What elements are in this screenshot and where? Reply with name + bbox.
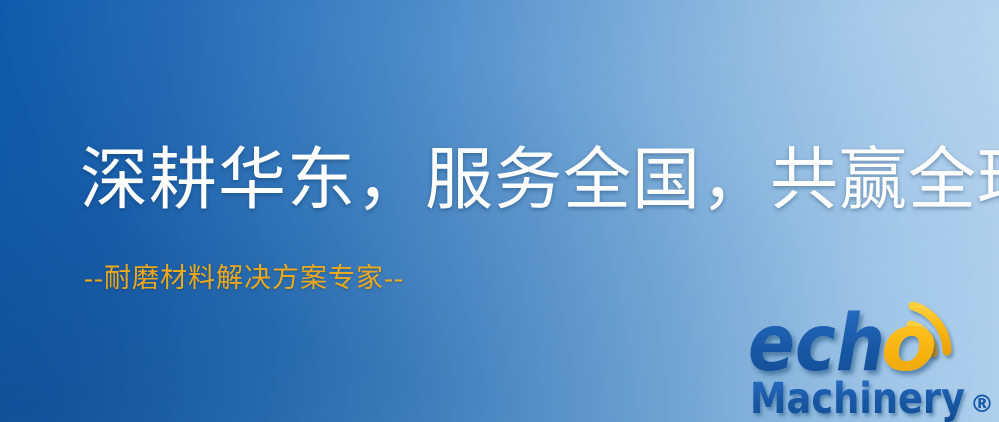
logo-subtext-group: Machinery (750, 374, 965, 422)
logo-subtext: Machinery (750, 374, 965, 422)
banner-subline: --耐磨材料解决方案专家-- (84, 265, 404, 292)
promo-banner: 深耕华东，服务全国，共赢全球 --耐磨材料解决方案专家-- (0, 0, 999, 422)
banner-headline: 深耕华东，服务全国，共赢全球 (80, 146, 999, 214)
registered-trademark-icon: ® (970, 390, 994, 418)
echo-machinery-logo[interactable]: ech o Machinery ® (748, 296, 999, 422)
